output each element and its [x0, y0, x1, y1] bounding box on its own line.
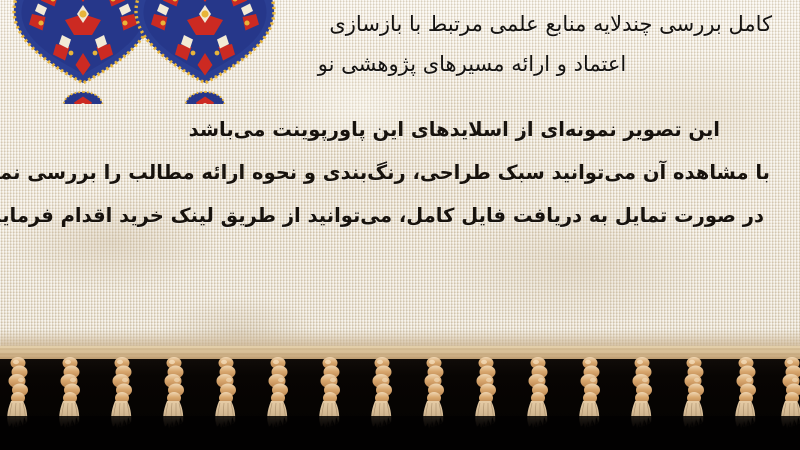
slide-canvas: کامل بررسی چندلایه منابع علمی مرتبط با ب… — [0, 0, 800, 450]
body-line-1: این تصویر نمونه‌ای از اسلایدهای این پاور… — [22, 108, 778, 151]
body-line-3: در صورت تمایل به دریافت فایل کامل، می‌تو… — [22, 194, 778, 237]
medallion-pendant — [64, 92, 103, 104]
carpet-fringe-tassels — [0, 346, 800, 450]
title-line-2: اعتماد و ارائه مسیرهای پژوهشی نو — [212, 44, 772, 84]
medallion-pendant — [186, 92, 225, 104]
slide-title: کامل بررسی چندلایه منابع علمی مرتبط با ب… — [212, 4, 772, 84]
slide-body-text: این تصویر نمونه‌ای از اسلایدهای این پاور… — [22, 108, 778, 237]
title-line-1: کامل بررسی چندلایه منابع علمی مرتبط با ب… — [212, 4, 772, 44]
body-line-2: با مشاهده آن می‌توانید سبک طراحی، رنگ‌بن… — [22, 151, 778, 194]
